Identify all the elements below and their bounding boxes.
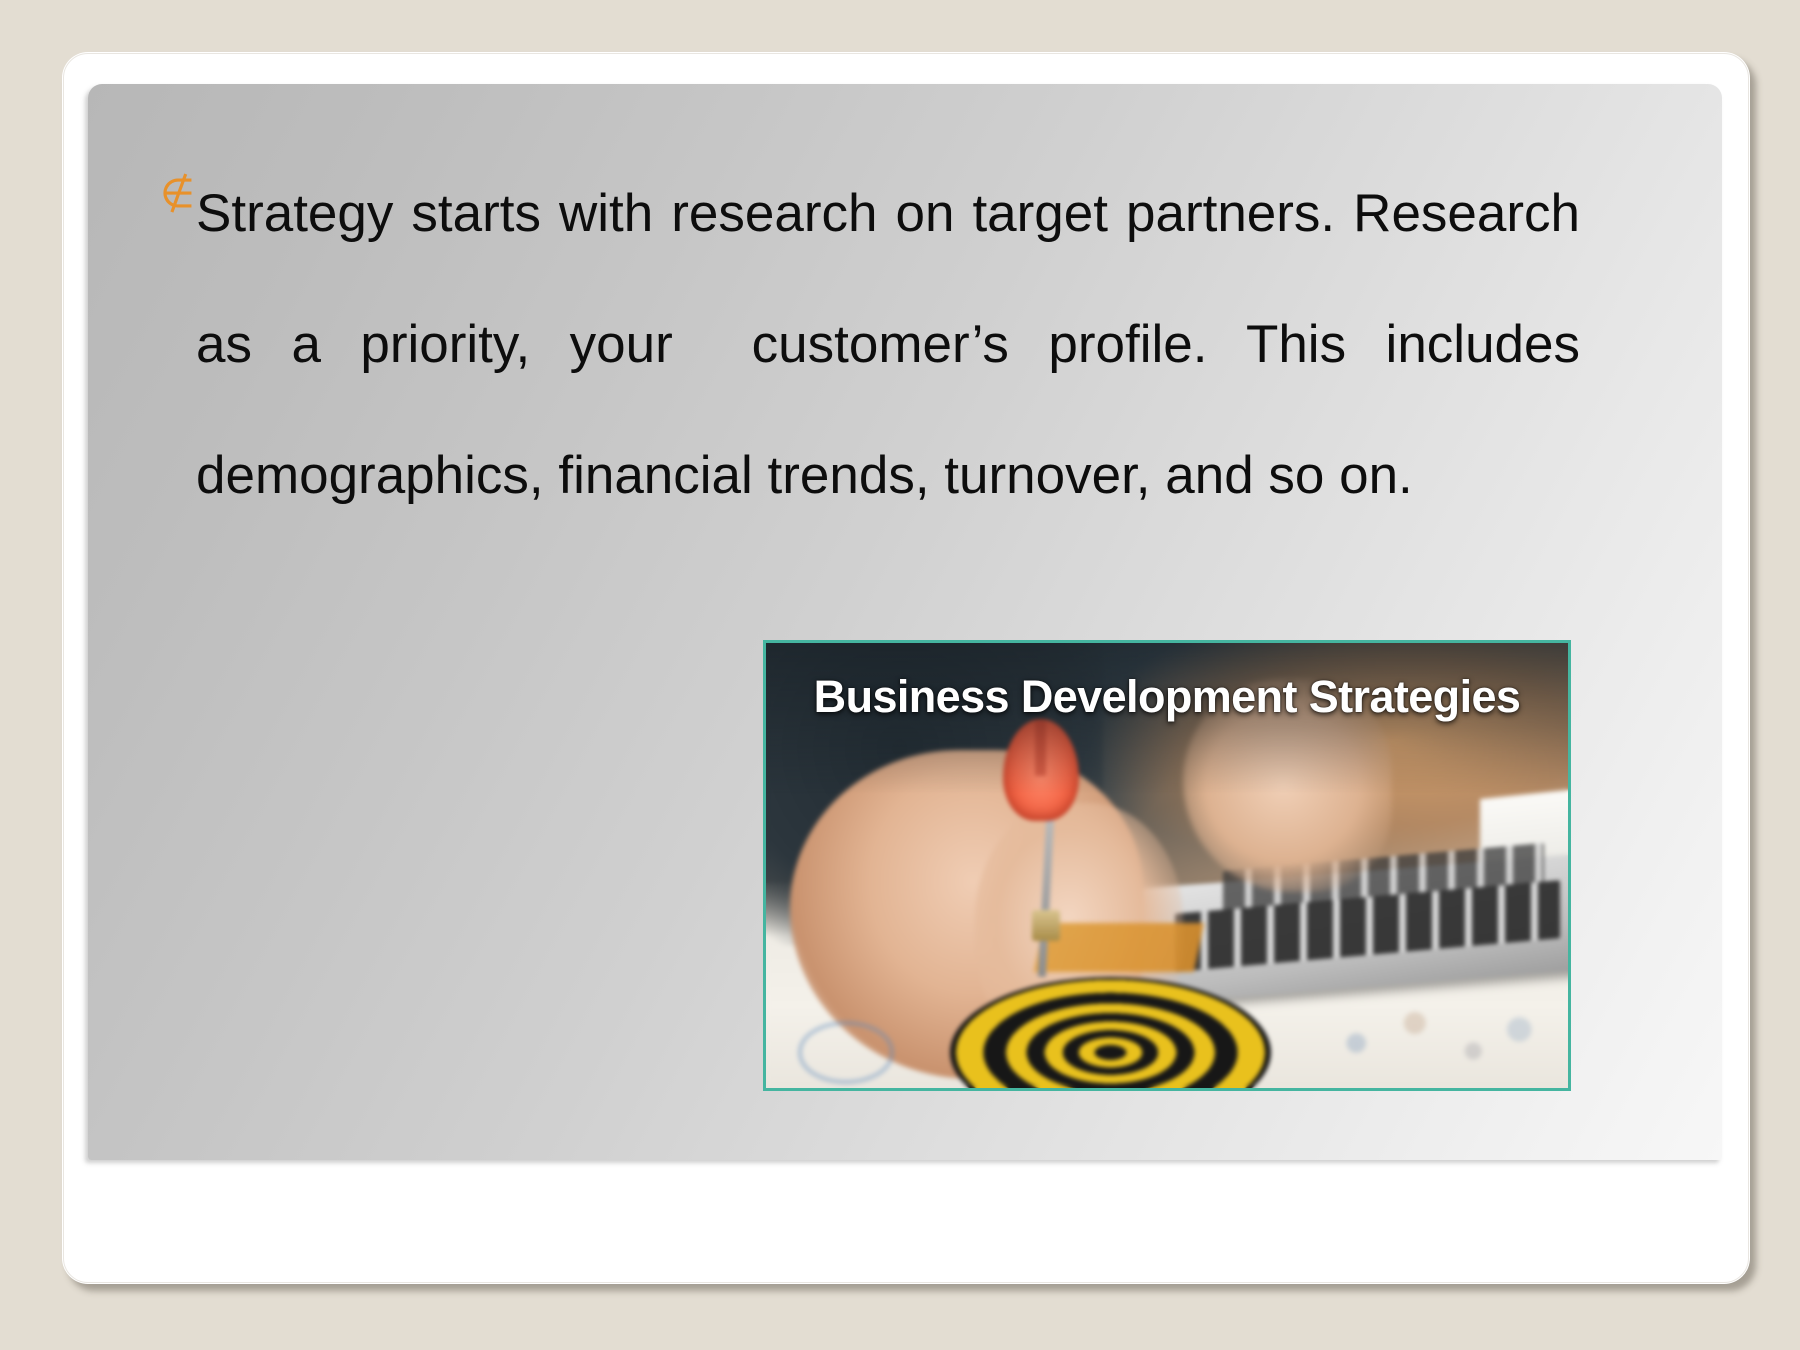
slide-content-panel: ∉ Strategy starts with research on targe… [88, 84, 1722, 1160]
not-element-of-bullet-icon: ∉ [160, 148, 196, 214]
picture-caption-text: Business Development Strategies [766, 671, 1568, 723]
picture-artwork: Business Development Strategies [766, 643, 1568, 1088]
body-paragraph-text: Strategy starts with research on target … [196, 148, 1580, 541]
business-strategy-picture[interactable]: Business Development Strategies [763, 640, 1571, 1091]
photo-chart-graphic [1327, 999, 1536, 1079]
photo-blue-circle-graphic [798, 1021, 894, 1083]
slide-card: ∉ Strategy starts with research on targe… [62, 52, 1750, 1284]
slide-canvas: ∉ Strategy starts with research on targe… [0, 0, 1800, 1350]
bullet-paragraph: ∉ Strategy starts with research on targe… [160, 148, 1580, 541]
photo-dart-barrel [1032, 910, 1059, 941]
body-text-block: ∉ Strategy starts with research on targe… [160, 148, 1580, 541]
